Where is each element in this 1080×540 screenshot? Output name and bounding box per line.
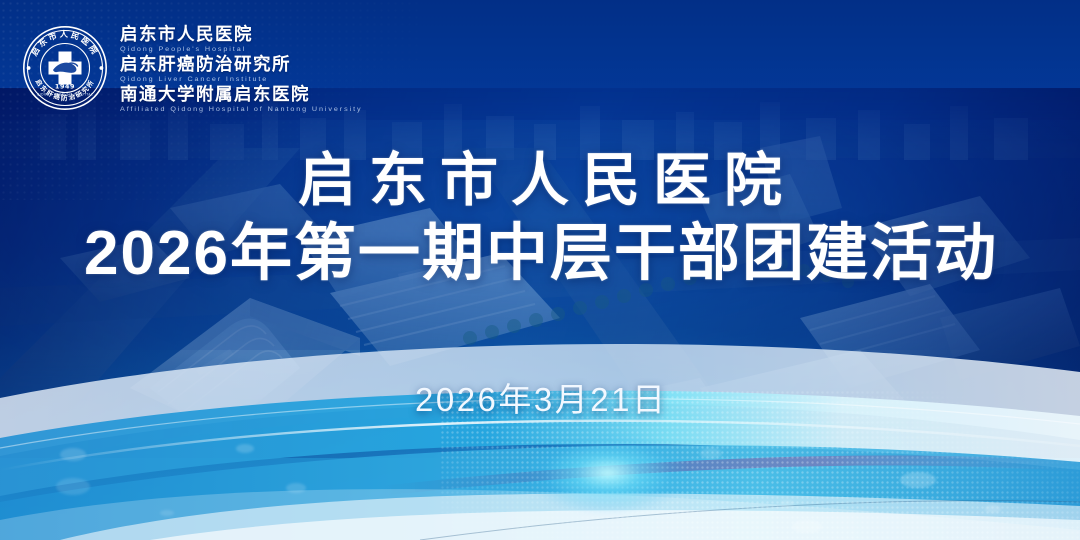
svg-text:QIDONG PEOPLE'S HOSPITAL: QIDONG PEOPLE'S HOSPITAL	[37, 93, 93, 97]
title-line-1: 启东市人民医院	[0, 150, 1080, 212]
logo-line-3-cn: 南通大学附属启东医院	[120, 84, 363, 104]
logo-line-1-en: Qidong People's Hospital	[120, 44, 363, 53]
logo-line-3: 南通大学附属启东医院 Affiliated Qidong Hospital of…	[120, 84, 363, 114]
logo-line-2: 启东肝癌防治研究所 Qidong Liver Cancer Institute	[120, 54, 363, 84]
logo-line-1-cn: 启东市人民医院	[120, 24, 363, 44]
event-banner: 启东市人民医院 启东肝癌防治研究所 1949 QIDONG PEOPLE'S H…	[0, 0, 1080, 540]
event-date: 2026年3月21日	[0, 380, 1080, 420]
title-line-2: 2026年第一期中层干部团建活动	[0, 218, 1080, 290]
main-title-block: 启东市人民医院 2026年第一期中层干部团建活动	[0, 150, 1080, 290]
logo-line-3-en: Affiliated Qidong Hospital of Nantong Un…	[120, 104, 363, 113]
logo-text-block: 启东市人民医院 Qidong People's Hospital 启东肝癌防治研…	[120, 22, 363, 114]
hospital-logo-lockup: 启东市人民医院 启东肝癌防治研究所 1949 QIDONG PEOPLE'S H…	[22, 22, 363, 114]
svg-text:1949: 1949	[55, 83, 75, 91]
logo-line-2-cn: 启东肝癌防治研究所	[120, 54, 363, 74]
hospital-seal-icon: 启东市人民医院 启东肝癌防治研究所 1949 QIDONG PEOPLE'S H…	[22, 25, 108, 111]
logo-line-1: 启东市人民医院 Qidong People's Hospital	[120, 24, 363, 54]
wave-ribbon-artwork	[0, 320, 1080, 540]
logo-line-2-en: Qidong Liver Cancer Institute	[120, 74, 363, 83]
